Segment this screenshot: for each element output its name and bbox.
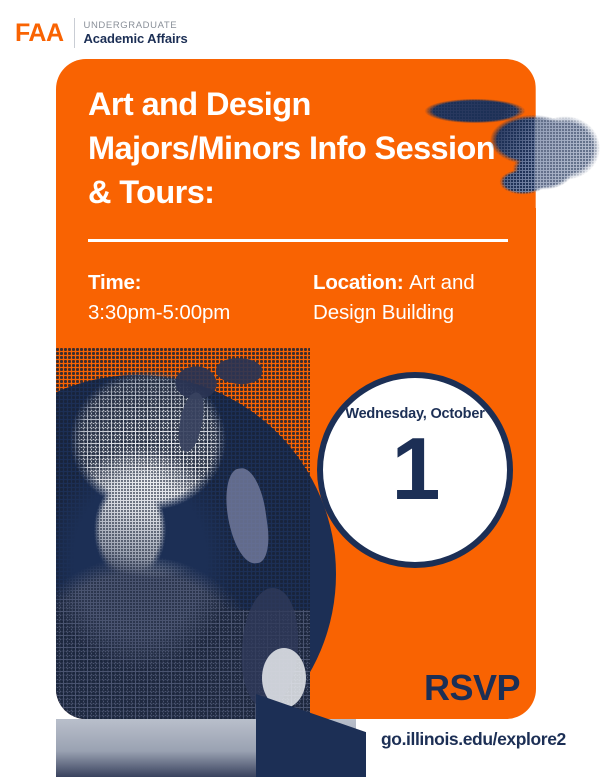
- detail-location: Location: Art and Design Building: [313, 268, 518, 328]
- logo-divider: [74, 18, 75, 48]
- detail-time: Time: 3:30pm-5:00pm: [88, 268, 293, 328]
- detail-location-label: Location:: [313, 271, 403, 294]
- rsvp-heading: RSVP: [424, 668, 520, 708]
- date-circle-badge: Wednesday, October 1: [317, 372, 513, 568]
- date-day-number: 1: [392, 421, 439, 517]
- logo-line-academic-affairs: Academic Affairs: [84, 31, 188, 46]
- logo-line-undergraduate: UNDERGRADUATE: [84, 20, 188, 31]
- page-title: Art and Design Majors/Minors Info Sessio…: [88, 82, 508, 214]
- logo-text-block: UNDERGRADUATE Academic Affairs: [84, 20, 188, 46]
- detail-time-label: Time:: [88, 268, 293, 298]
- orange-content-panel: Art and Design Majors/Minors Info Sessio…: [56, 59, 536, 719]
- classical-statue-image: [56, 348, 310, 719]
- title-divider-rule: [88, 239, 508, 242]
- pointing-hand-light-tint: [535, 78, 600, 208]
- faa-undergraduate-academic-affairs-logo: FAA UNDERGRADUATE Academic Affairs: [15, 18, 188, 48]
- detail-location-value: Art and: [409, 271, 474, 294]
- event-details: Time: 3:30pm-5:00pm Location: Art and De…: [88, 268, 518, 328]
- detail-location-value-line2: Design Building: [313, 298, 518, 328]
- detail-time-value: 3:30pm-5:00pm: [88, 298, 293, 328]
- logo-faa-mark: FAA: [15, 20, 64, 46]
- rsvp-url-link[interactable]: go.illinois.edu/explore2: [381, 729, 566, 749]
- poster-canvas: FAA UNDERGRADUATE Academic Affairs Art a…: [0, 0, 600, 777]
- detail-location-line1: Location: Art and: [313, 268, 518, 298]
